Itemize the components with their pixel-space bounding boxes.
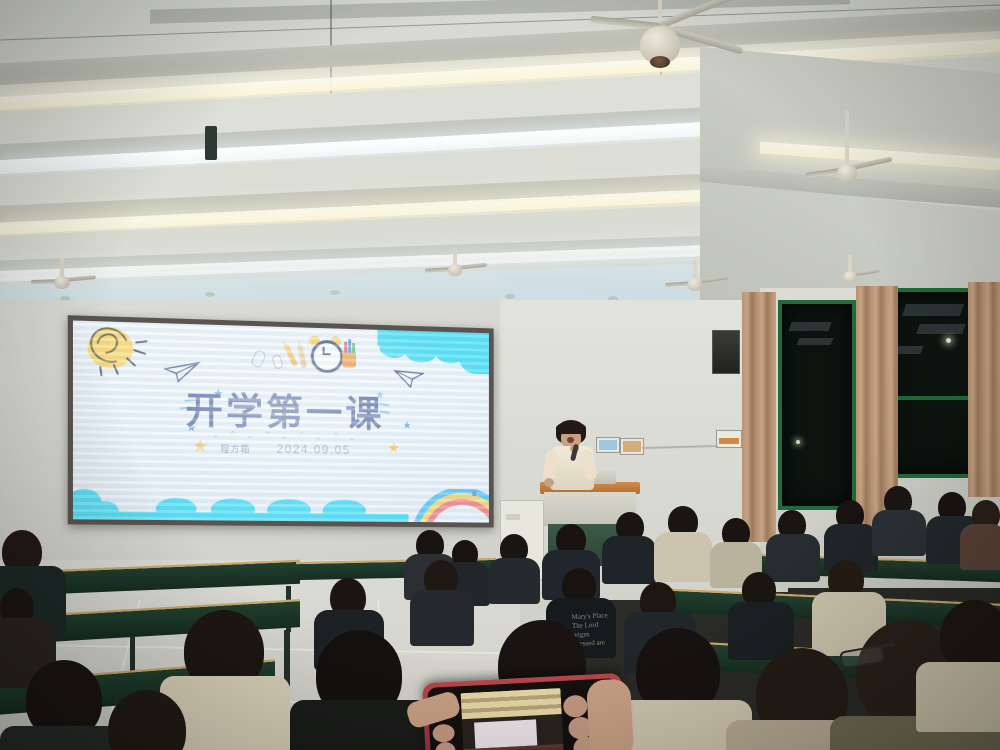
curtain: [742, 292, 776, 542]
projection-screen: ★ ★ ★ ★ ★ ★: [68, 315, 494, 527]
ceiling-fan: [812, 110, 882, 190]
speaker-presenter: [540, 420, 610, 490]
smartphone[interactable]: [422, 673, 626, 750]
hand-thumb: [586, 678, 634, 750]
wall-control-panel: [620, 438, 644, 455]
presentation-slide: ★ ★ ★ ★ ★ ★: [73, 320, 489, 522]
speaker-mouth: [567, 437, 574, 443]
lecture-hall-photo: ★ ★ ★ ★ ★ ★: [0, 0, 1000, 750]
ceiling-fan: [425, 248, 485, 298]
wall-notice: [716, 430, 742, 448]
wall-control-panel: [596, 437, 620, 453]
phone-screen-preview[interactable]: [461, 688, 565, 750]
curtain: [968, 282, 1000, 497]
wall-speaker: [712, 330, 740, 374]
ceiling: [0, 0, 1000, 330]
window: [778, 300, 856, 510]
ceiling-fan: [600, 0, 720, 90]
tshirt-print: Mary's PlaceThe Lord reignsBlessed are t…: [571, 611, 612, 639]
